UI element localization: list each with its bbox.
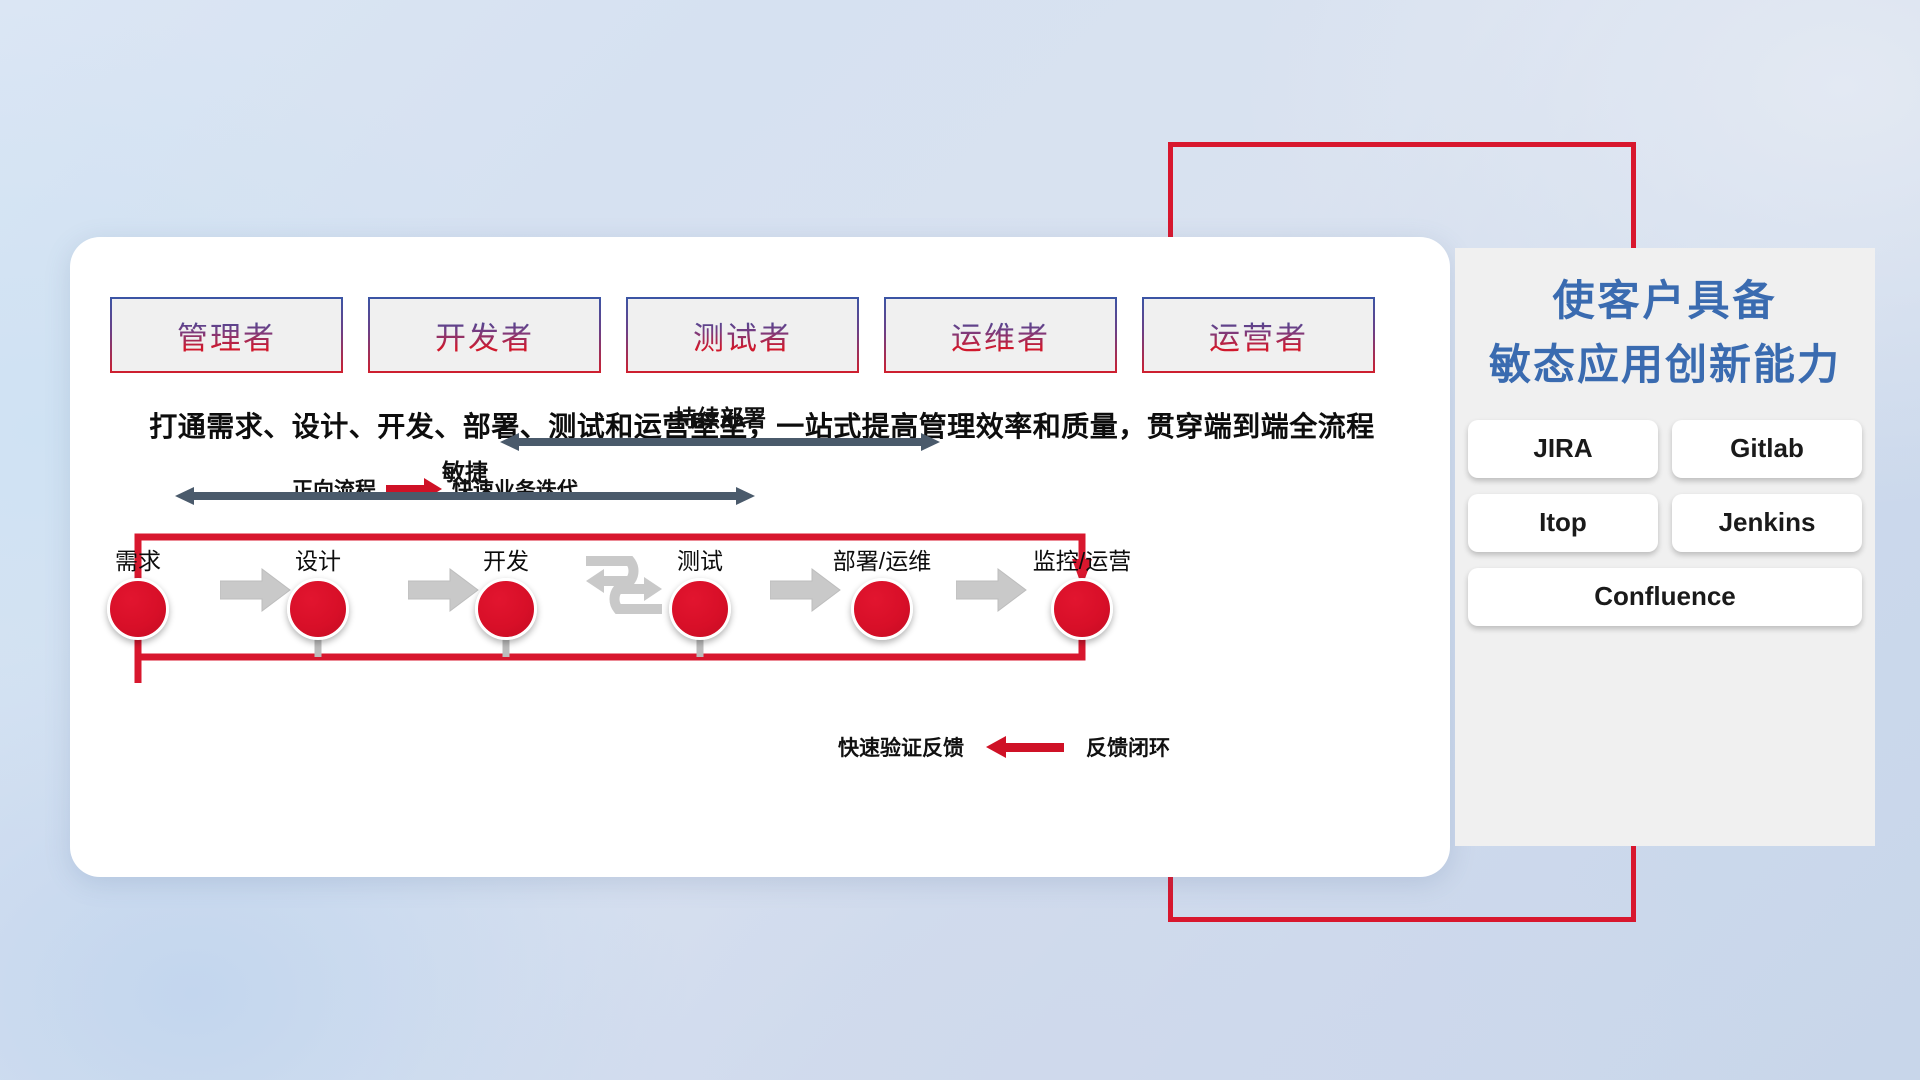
tool-button-itop[interactable]: Itop <box>1468 494 1658 552</box>
stage-circle-icon <box>1051 578 1113 640</box>
chevron-right-icon <box>956 567 1028 613</box>
role-box-operations[interactable]: 运营者 <box>1142 297 1375 373</box>
tool-button-confluence[interactable]: Confluence <box>1468 568 1862 626</box>
tool-button-jenkins[interactable]: Jenkins <box>1672 494 1862 552</box>
tool-button-grid: JIRA Gitlab Itop Jenkins Confluence <box>1455 392 1875 626</box>
stage-circle-icon <box>475 578 537 640</box>
role-label: 开发者 <box>435 313 534 358</box>
tool-button-jira[interactable]: JIRA <box>1468 420 1658 478</box>
side-panel-title-line1: 使客户具备 <box>1455 274 1875 328</box>
stage-circle-icon <box>851 578 913 640</box>
stage-label: 部署/运维 <box>833 542 931 576</box>
stage-node-requirements[interactable]: 需求 <box>107 578 169 640</box>
stage-label: 测试 <box>677 542 723 576</box>
stage-label: 开发 <box>483 542 529 576</box>
role-label: 运营者 <box>1209 313 1308 358</box>
stage-label: 监控/运营 <box>1033 542 1131 576</box>
fast-verification-label: 快速验证反馈 <box>838 732 964 762</box>
stage-label: 需求 <box>115 542 161 576</box>
role-box-ops[interactable]: 运维者 <box>884 297 1117 373</box>
feedback-loop-legend: 快速验证反馈 反馈闭环 <box>838 732 1170 762</box>
stage-node-design[interactable]: 设计 <box>287 578 349 640</box>
side-panel-title: 使客户具备 敏态应用创新能力 <box>1455 248 1875 392</box>
stage-node-monitor-operations[interactable]: 监控/运营 <box>1051 578 1113 640</box>
role-box-row: 管理者 开发者 测试者 运维者 运营者 <box>110 297 1375 373</box>
stage-node-development[interactable]: 开发 <box>475 578 537 640</box>
arrow-left-red-icon <box>986 736 1064 758</box>
stage-node-testing[interactable]: 测试 <box>669 578 731 640</box>
role-box-tester[interactable]: 测试者 <box>626 297 859 373</box>
stage-node-deploy-ops[interactable]: 部署/运维 <box>851 578 913 640</box>
role-label: 管理者 <box>177 313 276 358</box>
uturn-loop-arrow-icon <box>578 555 670 621</box>
role-box-developer[interactable]: 开发者 <box>368 297 601 373</box>
feedback-closed-loop-label: 反馈闭环 <box>1086 732 1170 762</box>
continuous-deployment-label: 持续部署 <box>500 399 940 433</box>
stage-circle-icon <box>287 578 349 640</box>
tool-button-gitlab[interactable]: Gitlab <box>1672 420 1862 478</box>
role-label: 测试者 <box>693 313 792 358</box>
chevron-right-icon <box>220 567 292 613</box>
agile-arrow <box>175 487 755 505</box>
main-diagram-card: 管理者 开发者 测试者 运维者 运营者 打通需求、设计、开发、部署、测试和运营壁… <box>70 237 1450 877</box>
stage-label: 设计 <box>295 542 341 576</box>
agile-label: 敏捷 <box>175 453 755 487</box>
chevron-right-icon <box>408 567 480 613</box>
side-panel-title-line2: 敏态应用创新能力 <box>1455 338 1875 392</box>
capability-side-panel: 使客户具备 敏态应用创新能力 JIRA Gitlab Itop Jenkins … <box>1455 248 1875 846</box>
continuous-deployment-arrow <box>500 433 940 451</box>
role-box-manager[interactable]: 管理者 <box>110 297 343 373</box>
stage-circle-icon <box>669 578 731 640</box>
stage-circle-icon <box>107 578 169 640</box>
chevron-right-icon <box>770 567 842 613</box>
role-label: 运维者 <box>951 313 1050 358</box>
